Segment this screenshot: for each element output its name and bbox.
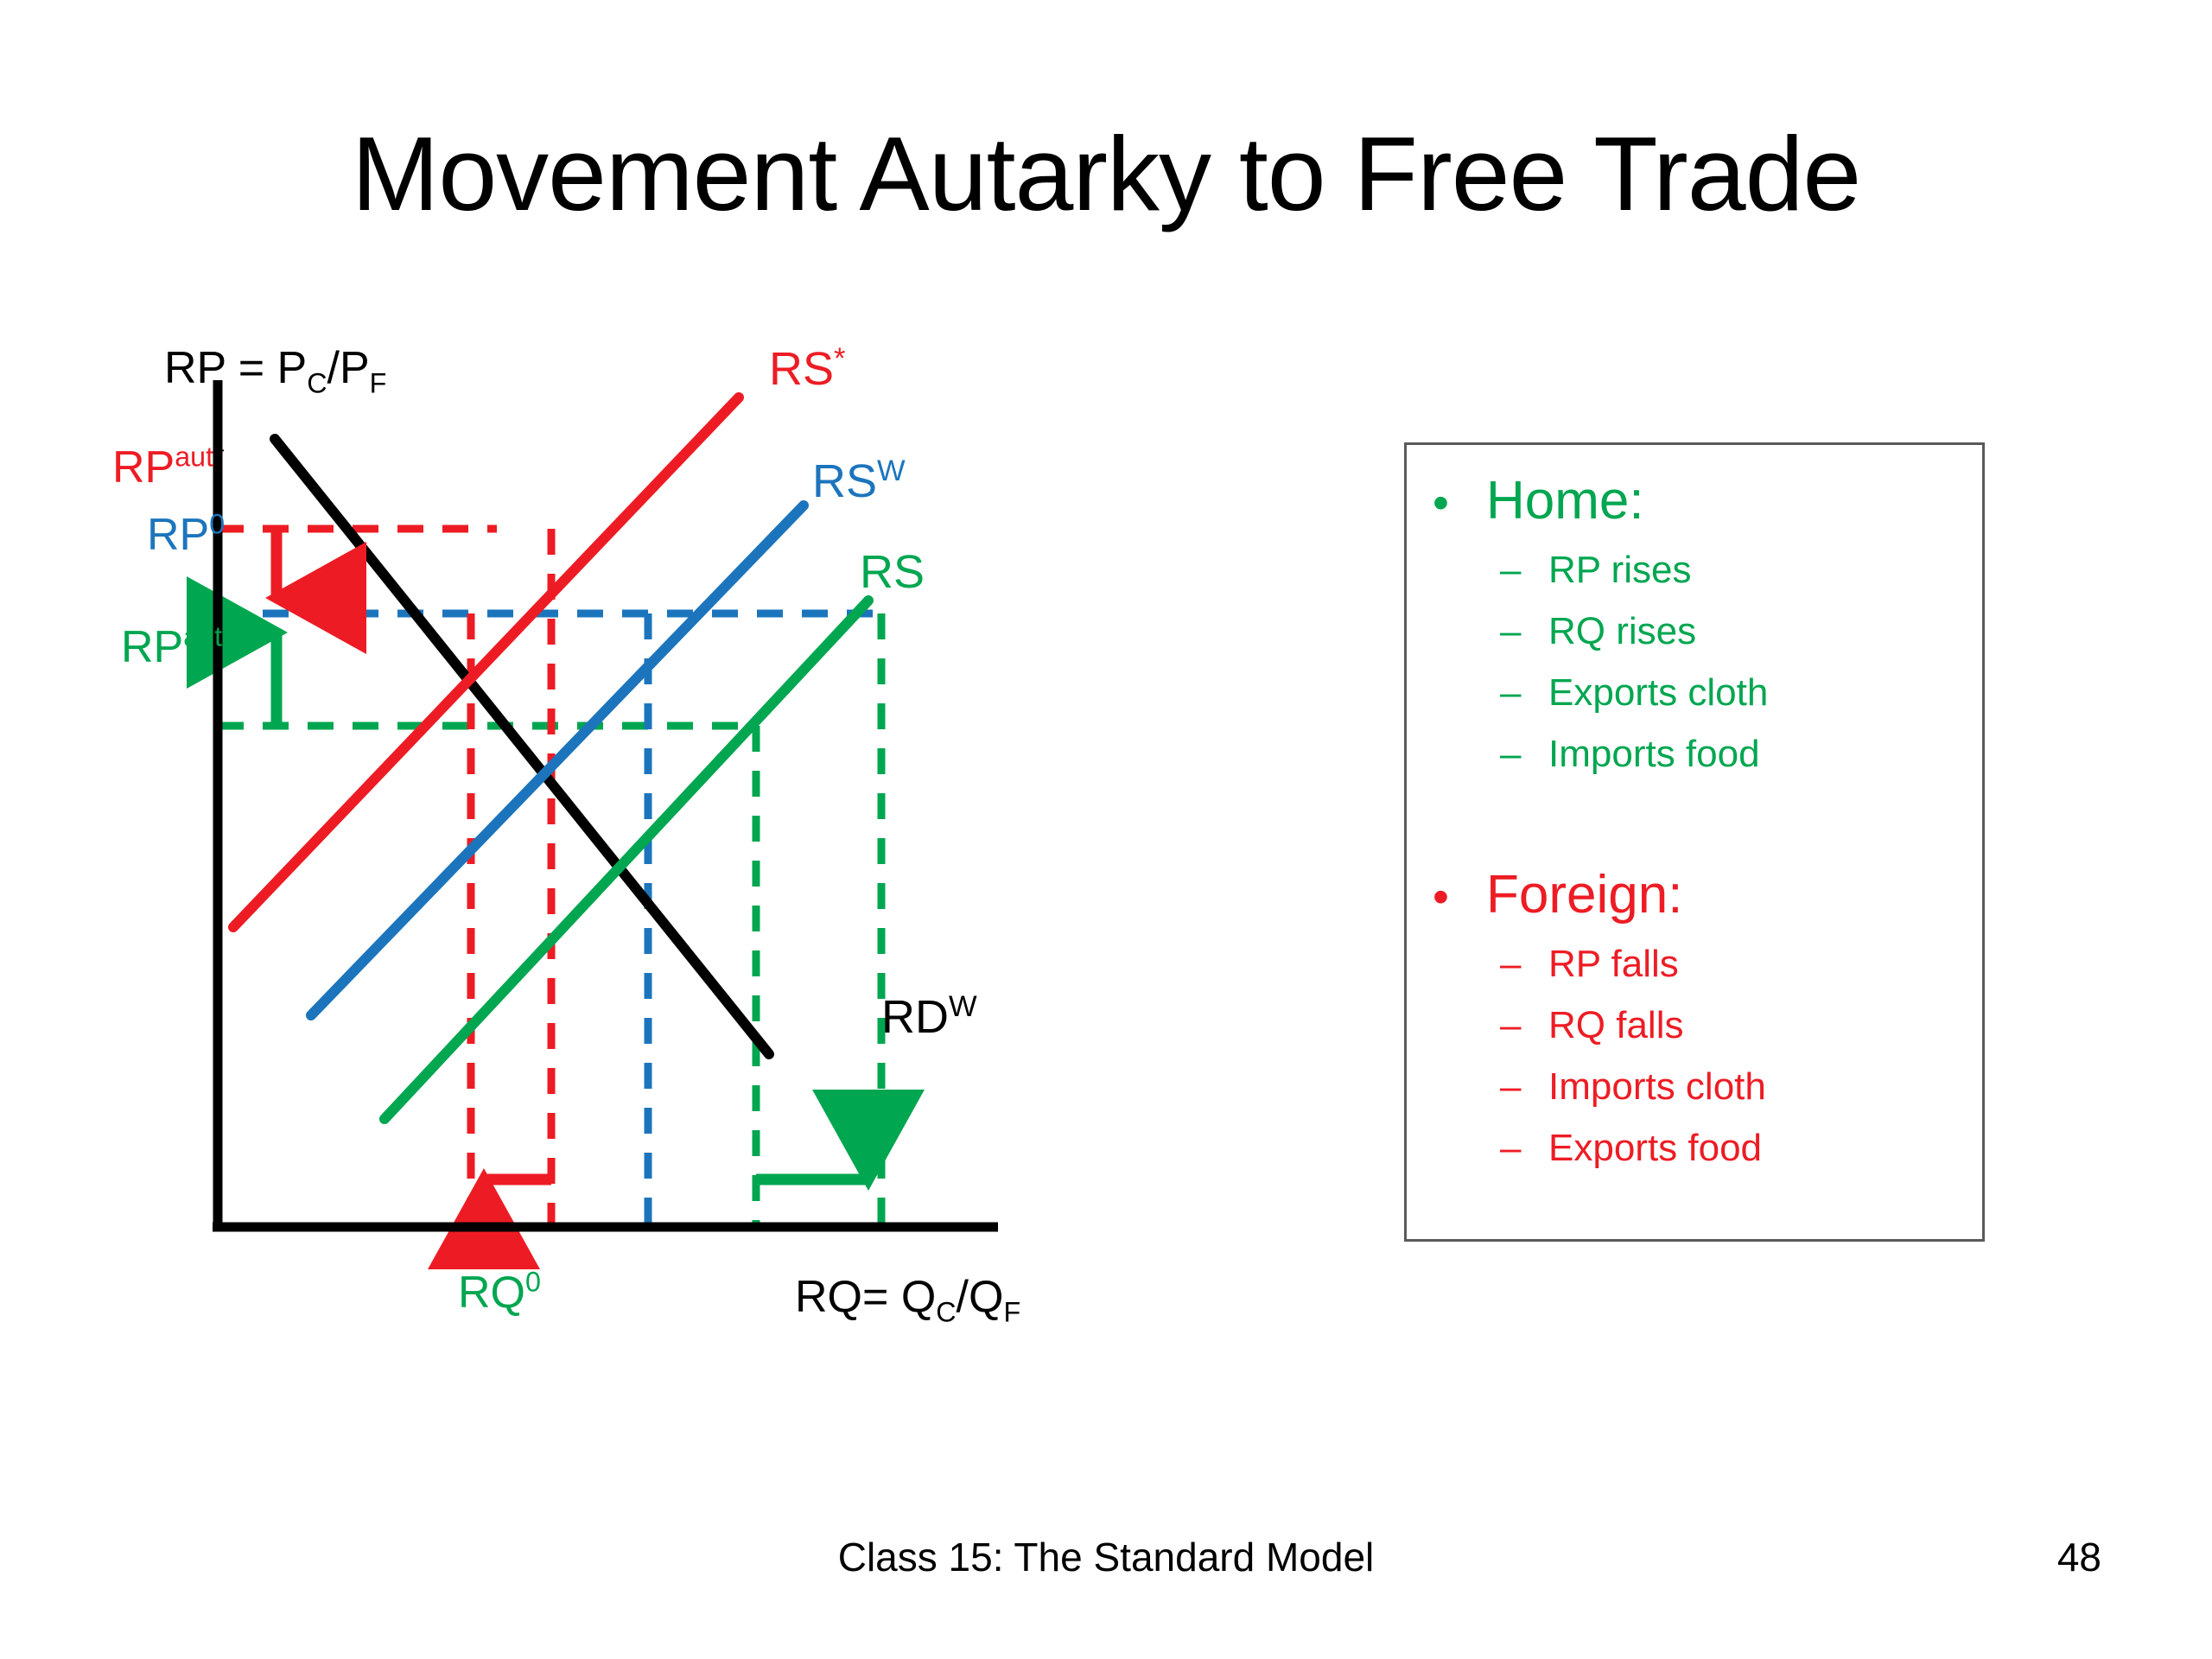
slide-footer: Class 15: The Standard Model: [0, 1534, 2212, 1580]
panel-group-home: • Home: – RP rises – RQ rises – Exports …: [1407, 474, 1982, 773]
page-title: Movement Autarky to Free Trade: [0, 121, 2212, 226]
list-item-label: RQ rises: [1548, 613, 1696, 651]
panel-heading-home: • Home:: [1407, 474, 1982, 528]
panel-heading-foreign-label: Foreign:: [1486, 868, 1682, 922]
list-item: – RP falls: [1407, 945, 1982, 983]
x-tick-label-rq-world: RQ0: [458, 1270, 541, 1315]
list-item: – Imports food: [1407, 735, 1982, 773]
dash-icon: –: [1500, 1068, 1548, 1106]
y-tick-label-rp-autarky-home: RPaut: [121, 625, 222, 670]
bullet-icon: •: [1433, 480, 1486, 526]
x-axis-title: RQ= QC/QF: [795, 1274, 1020, 1319]
list-item: – Exports food: [1407, 1129, 1982, 1167]
panel-heading-home-label: Home:: [1486, 474, 1644, 528]
curve-label-rs-foreign: RS*: [769, 346, 845, 392]
list-item-label: Imports food: [1548, 735, 1760, 773]
curve-rd-world: [275, 439, 769, 1054]
dash-icon: –: [1500, 674, 1548, 712]
panel-heading-foreign: • Foreign:: [1407, 868, 1982, 922]
dash-icon: –: [1500, 945, 1548, 983]
page-number: 48: [2057, 1534, 2101, 1580]
list-item-label: Imports cloth: [1548, 1068, 1766, 1106]
list-item-label: RP falls: [1548, 945, 1679, 983]
list-item: – Imports cloth: [1407, 1068, 1982, 1106]
list-item-label: Exports food: [1548, 1129, 1762, 1167]
list-item-label: RQ falls: [1548, 1007, 1683, 1045]
chart-figure: RP = PC/PF RQ= QC/QF RPaut* RP0 RPaut RQ…: [199, 363, 1236, 1357]
dash-icon: –: [1500, 1129, 1548, 1167]
summary-panel: • Home: – RP rises – RQ rises – Exports …: [1404, 442, 1985, 1242]
list-item-label: Exports cloth: [1548, 674, 1768, 712]
bullet-icon: •: [1433, 874, 1486, 920]
y-tick-label-rp-world: RP0: [147, 512, 225, 557]
dash-icon: –: [1500, 613, 1548, 651]
y-axis-title: RP = PC/PF: [164, 346, 386, 391]
curve-label-rs-home: RS: [860, 549, 925, 595]
y-tick-label-rp-autarky-foreign: RPaut*: [112, 445, 225, 490]
curve-label-rd-world: RDW: [881, 994, 977, 1040]
dash-icon: –: [1500, 551, 1548, 589]
panel-group-foreign: • Foreign: – RP falls – RQ falls – Impor…: [1407, 868, 1982, 1167]
dash-icon: –: [1500, 735, 1548, 773]
list-item: – RP rises: [1407, 551, 1982, 589]
list-item-label: RP rises: [1548, 551, 1691, 589]
dash-icon: –: [1500, 1007, 1548, 1045]
list-item: – RQ falls: [1407, 1007, 1982, 1045]
list-item: – Exports cloth: [1407, 674, 1982, 712]
list-item: – RQ rises: [1407, 613, 1982, 651]
curve-label-rs-world: RSW: [812, 458, 906, 505]
chart-canvas: [199, 363, 1236, 1357]
